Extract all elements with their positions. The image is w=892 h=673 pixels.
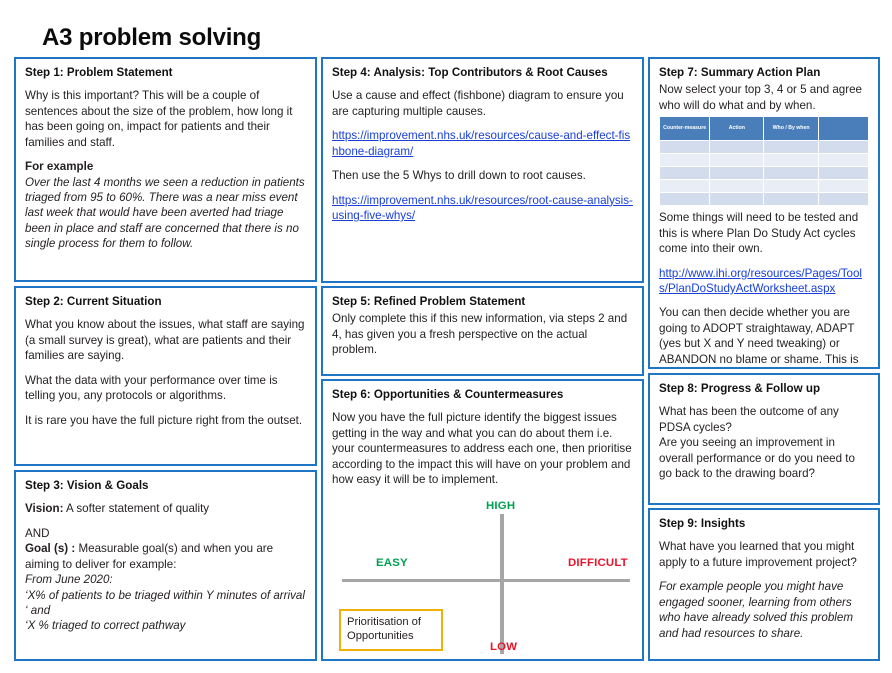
table-cell[interactable] [660, 154, 710, 167]
step4-five-whys-link[interactable]: https://improvement.nhs.uk/resources/roo… [332, 193, 633, 224]
step7-body-3: You can then decide whether you are goin… [659, 305, 869, 369]
action-plan-header-countermeasure: Counter-measure [660, 117, 710, 141]
table-cell[interactable] [710, 193, 764, 206]
step2-title: Step 2: Current Situation [25, 295, 306, 309]
step6-opportunities-countermeasures-card: Step 6: Opportunities & Countermeasures … [321, 379, 644, 661]
action-plan-table: Counter-measure Action Who / By when [659, 116, 869, 206]
quadrant-label-difficult: DIFFICULT [568, 557, 628, 569]
step9-title: Step 9: Insights [659, 517, 869, 531]
step8-progress-follow-up-card: Step 8: Progress & Follow up What has be… [648, 373, 880, 505]
table-cell[interactable] [660, 167, 710, 180]
step1-problem-statement-card: Step 1: Problem Statement Why is this im… [14, 57, 317, 282]
table-row[interactable] [660, 193, 869, 206]
quadrant-label-high: HIGH [486, 500, 515, 512]
table-cell[interactable] [764, 154, 818, 167]
step3-vision-label: Vision: [25, 502, 63, 515]
step4-analysis-card: Step 4: Analysis: Top Contributors & Roo… [321, 57, 644, 283]
step3-vision-text: A softer statement of quality [63, 502, 209, 515]
step2-body-2: What the data with your performance over… [25, 373, 306, 404]
table-cell[interactable] [818, 154, 868, 167]
step3-vision-line: Vision: A softer statement of quality [25, 501, 306, 516]
step9-insights-card: Step 9: Insights What have you learned t… [648, 508, 880, 661]
step1-example-body: Over the last 4 months we seen a reducti… [25, 175, 306, 252]
step7-title: Step 7: Summary Action Plan [659, 66, 869, 80]
prioritisation-caption-box: Prioritisation of Opportunities [339, 609, 443, 652]
step1-title: Step 1: Problem Statement [25, 66, 306, 80]
prioritisation-quadrant: HIGH LOW EASY DIFFICULT Prioritisation o… [332, 500, 633, 658]
step3-and: AND [25, 526, 306, 541]
step4-fishbone-link[interactable]: https://improvement.nhs.uk/resources/cau… [332, 128, 633, 159]
step2-body-3: It is rare you have the full picture rig… [25, 413, 306, 428]
step6-body: Now you have the full picture identify t… [332, 410, 633, 487]
step9-body-2: For example people you might have engage… [659, 579, 869, 641]
table-row[interactable] [660, 141, 869, 154]
step9-body-1: What have you learned that you might app… [659, 539, 869, 570]
table-cell[interactable] [764, 193, 818, 206]
table-row[interactable] [660, 154, 869, 167]
a3-problem-solving-page: A3 problem solving Step 1: Problem State… [0, 0, 892, 673]
step5-body: Only complete this if this new informati… [332, 311, 633, 357]
step7-summary-action-plan-card: Step 7: Summary Action Plan Now select y… [648, 57, 880, 369]
table-cell[interactable] [764, 141, 818, 154]
table-cell[interactable] [710, 167, 764, 180]
step3-from-date: From June 2020: [25, 572, 306, 587]
action-plan-header-who-by-when: Who / By when [764, 117, 818, 141]
table-cell[interactable] [818, 193, 868, 206]
a3-board: Step 1: Problem Statement Why is this im… [14, 57, 880, 661]
step7-body-2: Some things will need to be tested and t… [659, 210, 869, 256]
table-cell[interactable] [764, 167, 818, 180]
step5-title: Step 5: Refined Problem Statement [332, 295, 633, 309]
step1-example-heading: For example [25, 159, 306, 174]
step6-title: Step 6: Opportunities & Countermeasures [332, 388, 633, 402]
action-plan-header-row: Counter-measure Action Who / By when [660, 117, 869, 141]
quadrant-label-low: LOW [490, 641, 517, 653]
step2-current-situation-card: Step 2: Current Situation What you know … [14, 286, 317, 466]
step1-body: Why is this important? This will be a co… [25, 88, 306, 150]
table-cell[interactable] [660, 180, 710, 193]
table-cell[interactable] [710, 180, 764, 193]
table-cell[interactable] [764, 180, 818, 193]
step3-vision-goals-card: Step 3: Vision & Goals Vision: A softer … [14, 470, 317, 661]
table-cell[interactable] [660, 193, 710, 206]
step7-pdsa-worksheet-link[interactable]: http://www.ihi.org/resources/Pages/Tools… [659, 266, 869, 297]
table-row[interactable] [660, 180, 869, 193]
table-cell[interactable] [660, 141, 710, 154]
table-cell[interactable] [818, 141, 868, 154]
table-cell[interactable] [818, 180, 868, 193]
step5-refined-problem-statement-card: Step 5: Refined Problem Statement Only c… [321, 286, 644, 376]
action-plan-header-action: Action [710, 117, 764, 141]
step4-body-1: Use a cause and effect (fishbone) diagra… [332, 88, 633, 119]
step8-title: Step 8: Progress & Follow up [659, 382, 869, 396]
step3-goal-line-1: ‘X% of patients to be triaged within Y m… [25, 588, 306, 619]
step4-title: Step 4: Analysis: Top Contributors & Roo… [332, 66, 633, 80]
table-row[interactable] [660, 167, 869, 180]
quadrant-label-easy: EASY [376, 557, 408, 569]
step3-goal-label: Goal (s) : [25, 542, 75, 555]
step3-goal-line: Goal (s) : Measurable goal(s) and when y… [25, 541, 306, 572]
quadrant-horizontal-axis [342, 579, 630, 582]
action-plan-header-blank [818, 117, 868, 141]
step3-title: Step 3: Vision & Goals [25, 479, 306, 493]
table-cell[interactable] [818, 167, 868, 180]
page-title: A3 problem solving [42, 24, 261, 52]
step3-goal-line-2: ‘X % triaged to correct pathway [25, 618, 306, 633]
step4-body-2: Then use the 5 Whys to drill down to roo… [332, 168, 633, 183]
table-cell[interactable] [710, 141, 764, 154]
step8-body-2: Are you seeing an improvement in overall… [659, 435, 869, 481]
quadrant-vertical-axis [500, 514, 504, 654]
step2-body-1: What you know about the issues, what sta… [25, 317, 306, 363]
step7-body-1: Now select your top 3, 4 or 5 and agree … [659, 82, 869, 113]
step8-body-1: What has been the outcome of any PDSA cy… [659, 404, 869, 435]
table-cell[interactable] [710, 154, 764, 167]
